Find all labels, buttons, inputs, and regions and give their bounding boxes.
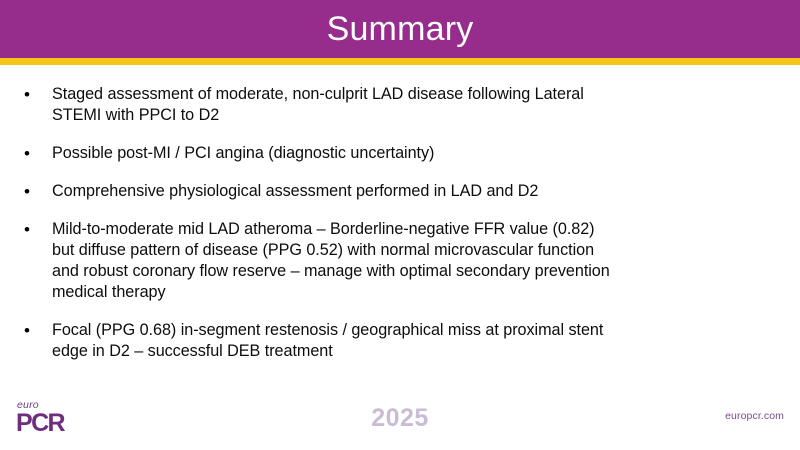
bullet-point-icon: • bbox=[22, 320, 52, 341]
list-item: • Focal (PPG 0.68) in-segment restenosis… bbox=[0, 320, 800, 362]
bullet-list: • Staged assessment of moderate, non-cul… bbox=[0, 84, 800, 394]
page-title: Summary bbox=[327, 12, 474, 46]
bullet-point-icon: • bbox=[22, 143, 52, 164]
slide-header-band: Summary bbox=[0, 0, 800, 58]
bullet-point-icon: • bbox=[22, 181, 52, 202]
bullet-point-icon: • bbox=[22, 219, 52, 240]
year-label: 2025 bbox=[0, 404, 800, 433]
list-item: • Staged assessment of moderate, non-cul… bbox=[0, 84, 800, 126]
bullet-point-icon: • bbox=[22, 84, 52, 105]
list-item-text: Focal (PPG 0.68) in-segment restenosis /… bbox=[52, 320, 782, 362]
website-label: europcr.com bbox=[725, 410, 784, 422]
slide-footer: euro PCR 2025 europcr.com bbox=[0, 394, 800, 450]
list-item-text: Mild-to-moderate mid LAD atheroma – Bord… bbox=[52, 219, 782, 303]
list-item: • Comprehensive physiological assessment… bbox=[0, 181, 800, 202]
list-item: • Mild-to-moderate mid LAD atheroma – Bo… bbox=[0, 219, 800, 303]
list-item-text: Staged assessment of moderate, non-culpr… bbox=[52, 84, 782, 126]
list-item: • Possible post-MI / PCI angina (diagnos… bbox=[0, 143, 800, 164]
slide: Summary • Staged assessment of moderate,… bbox=[0, 0, 800, 450]
list-item-text: Possible post-MI / PCI angina (diagnosti… bbox=[52, 143, 782, 164]
header-accent-rule bbox=[0, 58, 800, 65]
list-item-text: Comprehensive physiological assessment p… bbox=[52, 181, 782, 202]
